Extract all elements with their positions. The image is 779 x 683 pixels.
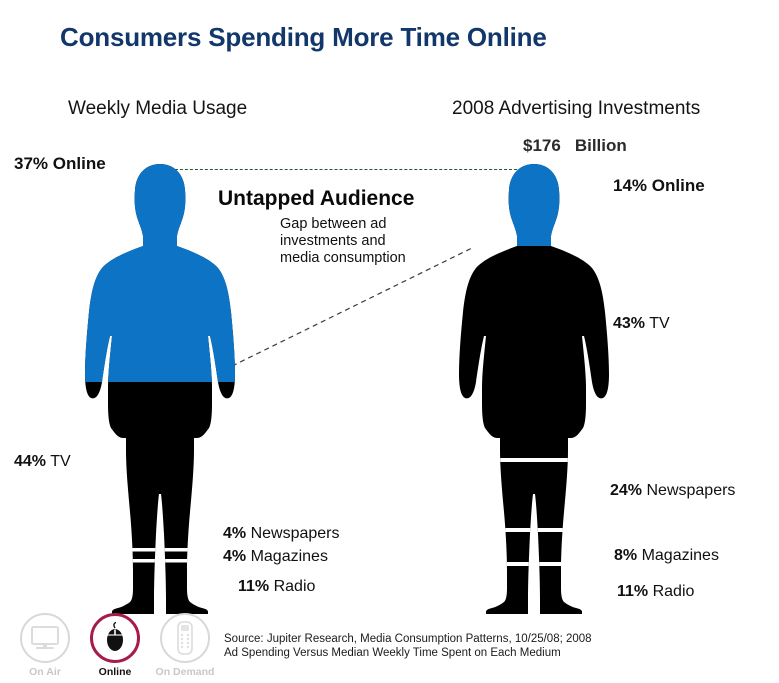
stat-left-radio-value: 11%	[238, 578, 269, 595]
stat-left-magazines-medium: Magazines	[251, 548, 328, 565]
left-figure-svg	[78, 160, 242, 615]
left-panel-heading: Weekly Media Usage	[68, 98, 247, 120]
stat-right-online: 14% Online	[613, 176, 705, 196]
on-air-caption: On Air	[29, 666, 61, 678]
stat-right-magazines: 8% Magazines	[614, 547, 719, 565]
stat-left-radio: 11% Radio	[238, 578, 315, 596]
left-divider-1	[78, 548, 242, 552]
on-demand-ring	[160, 613, 210, 663]
stat-right-newspapers-medium: Newspapers	[646, 482, 735, 499]
stat-right-online-medium: Online	[652, 176, 705, 195]
stat-left-magazines: 4% Magazines	[223, 548, 328, 566]
source-note: Source: Jupiter Research, Media Consumpt…	[224, 633, 592, 660]
tv-icon	[30, 625, 60, 651]
right-divider-3	[452, 562, 616, 566]
mouse-icon	[102, 622, 128, 654]
stat-left-newspapers-medium: Newspapers	[251, 525, 340, 542]
stat-left-newspapers-value: 4%	[223, 525, 246, 542]
channel-item-online[interactable]: Online	[86, 613, 144, 678]
stat-right-radio-medium: Radio	[653, 583, 695, 600]
stat-right-radio: 11% Radio	[617, 583, 694, 601]
left-divider-2	[78, 559, 242, 563]
stat-right-tv-medium: TV	[649, 315, 669, 332]
page-title: Consumers Spending More Time Online	[60, 22, 547, 53]
right-panel-heading: 2008 Advertising Investments	[452, 98, 700, 120]
left-figure-body	[78, 160, 242, 615]
online-caption: Online	[99, 666, 132, 678]
right-human-figure	[452, 160, 616, 615]
stat-right-newspapers: 24% Newspapers	[610, 482, 735, 500]
stat-right-tv: 43% TV	[613, 315, 670, 333]
on-air-ring	[20, 613, 70, 663]
stat-left-newspapers: 4% Newspapers	[223, 525, 340, 543]
total-amount: $176	[523, 136, 561, 155]
stat-left-radio-medium: Radio	[274, 578, 316, 595]
right-figure-svg	[452, 160, 616, 615]
stat-left-tv-value: 44%	[14, 453, 46, 470]
stat-left-online: 37% Online	[14, 154, 106, 174]
media-channel-icon-strip: On Air Online	[16, 613, 214, 678]
right-segment-online	[452, 160, 616, 246]
stat-left-tv: 44% TV	[14, 453, 71, 471]
callout-body: Gap between ad investments and media con…	[280, 216, 420, 267]
stat-left-tv-medium: TV	[50, 453, 70, 470]
stat-right-magazines-medium: Magazines	[642, 547, 719, 564]
left-human-figure	[78, 160, 242, 615]
stat-right-online-value: 14%	[613, 176, 647, 195]
infographic-canvas: Consumers Spending More Time Online Week…	[0, 0, 779, 683]
stat-left-online-medium: Online	[53, 154, 106, 173]
online-ring	[90, 613, 140, 663]
on-demand-caption: On Demand	[156, 666, 215, 678]
stat-left-magazines-value: 4%	[223, 548, 246, 565]
channel-item-on-air[interactable]: On Air	[16, 613, 74, 678]
remote-icon	[177, 621, 193, 655]
callout-title: Untapped Audience	[218, 187, 414, 211]
stat-right-radio-value: 11%	[617, 583, 648, 600]
channel-item-on-demand[interactable]: On Demand	[156, 613, 214, 678]
stat-right-tv-value: 43%	[613, 315, 645, 332]
stat-left-online-value: 37%	[14, 154, 48, 173]
right-figure-body	[452, 160, 616, 615]
total-ad-investment: $176Billion	[523, 136, 627, 156]
total-unit: Billion	[575, 136, 627, 155]
stat-right-newspapers-value: 24%	[610, 482, 642, 499]
right-divider-1	[452, 458, 616, 462]
right-divider-2	[452, 528, 616, 532]
stat-right-magazines-value: 8%	[614, 547, 637, 564]
